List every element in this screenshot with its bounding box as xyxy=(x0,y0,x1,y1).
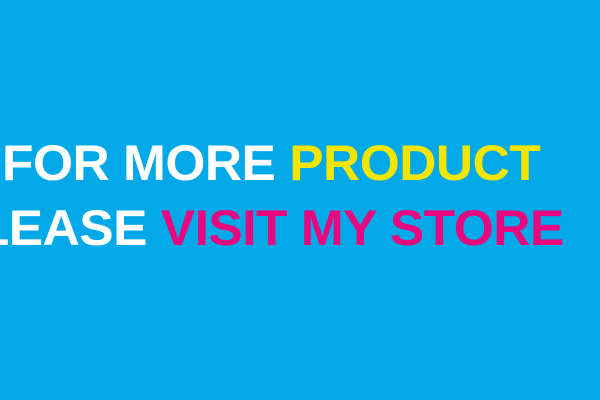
headline-line-2: PLEASE VISIT MY STORE xyxy=(0,203,564,253)
headline-line-1-yellow-segment: PRODUCT xyxy=(289,135,540,191)
headline-block: FOR MORE PRODUCT PLEASE VISIT MY STORE xyxy=(0,0,600,400)
headline-line-2-white-segment: PLEASE xyxy=(0,200,161,256)
promo-banner: FOR MORE PRODUCT PLEASE VISIT MY STORE xyxy=(0,0,600,400)
headline-line-1: FOR MORE PRODUCT xyxy=(2,138,540,188)
headline-line-1-white-segment: FOR MORE xyxy=(2,135,289,191)
headline-line-2-magenta-segment: VISIT MY STORE xyxy=(161,200,564,256)
